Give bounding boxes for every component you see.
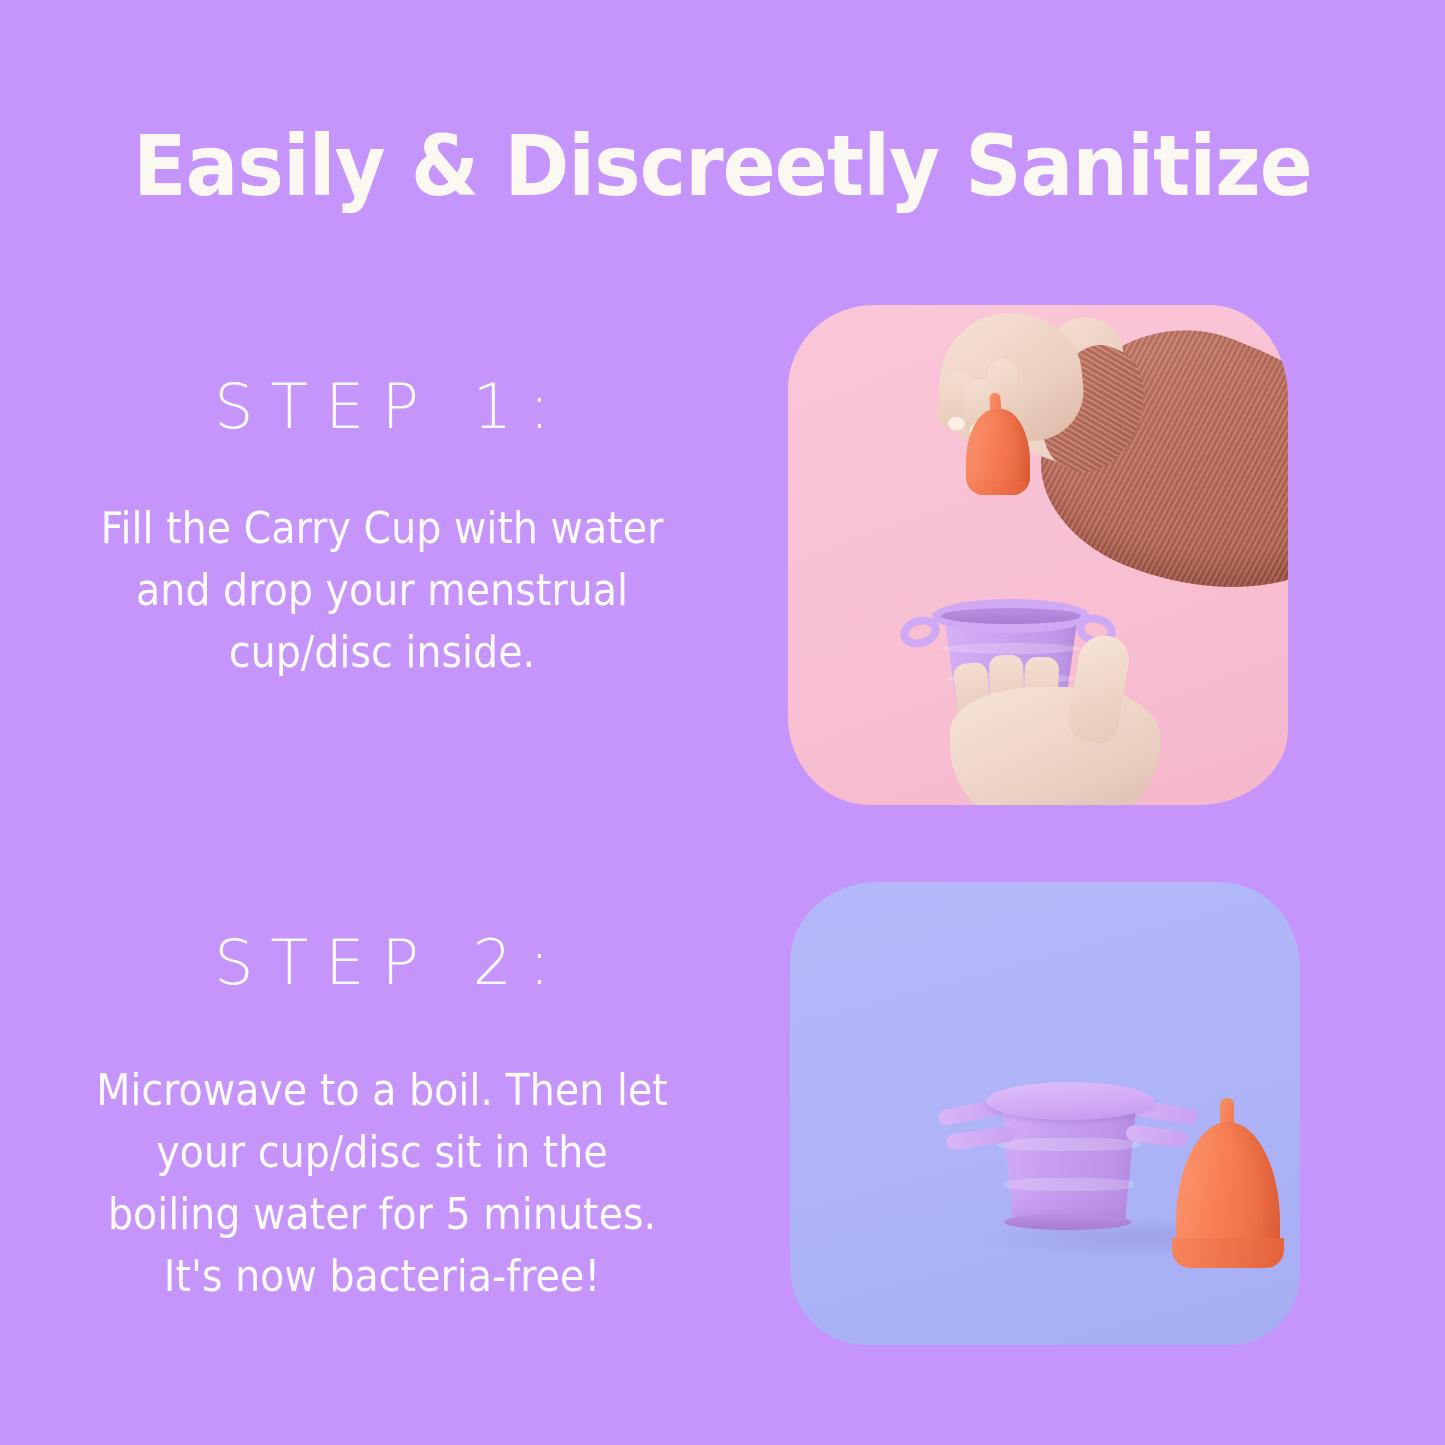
closed-carry-cup	[994, 1104, 1144, 1224]
lower-hand	[950, 687, 1160, 805]
step-1-text-column: STEP 1: Fill the Carry Cup with water an…	[52, 372, 712, 684]
step-2-body: Microwave to a boil. Then let your cup/d…	[85, 1060, 679, 1308]
step-1-label: STEP 1:	[52, 372, 712, 442]
step-2-photo	[790, 882, 1300, 1345]
step-1-photo	[788, 305, 1288, 805]
carry-cup-bellows-ring	[1004, 1178, 1134, 1191]
step-1-body: Fill the Carry Cup with water and drop y…	[85, 498, 679, 684]
carry-cup-base	[1004, 1214, 1132, 1230]
step-2-text-column: STEP 2: Microwave to a boil. Then let yo…	[52, 928, 712, 1308]
step-2-label: STEP 2:	[52, 928, 712, 998]
page-title: Easily & Discreetly Sanitize	[51, 118, 1395, 214]
fingernail	[948, 417, 965, 430]
carry-cup-rim	[932, 599, 1090, 633]
menstrual-cup-rim	[970, 481, 1026, 495]
carry-cup-lid	[986, 1082, 1154, 1120]
carry-cup-bellows-ring	[998, 1138, 1140, 1151]
infographic-page: Easily & Discreetly Sanitize STEP 1: Fil…	[0, 0, 1445, 1445]
menstrual-cup-base	[1172, 1238, 1284, 1268]
carry-cup-bellows-ring	[942, 643, 1080, 654]
